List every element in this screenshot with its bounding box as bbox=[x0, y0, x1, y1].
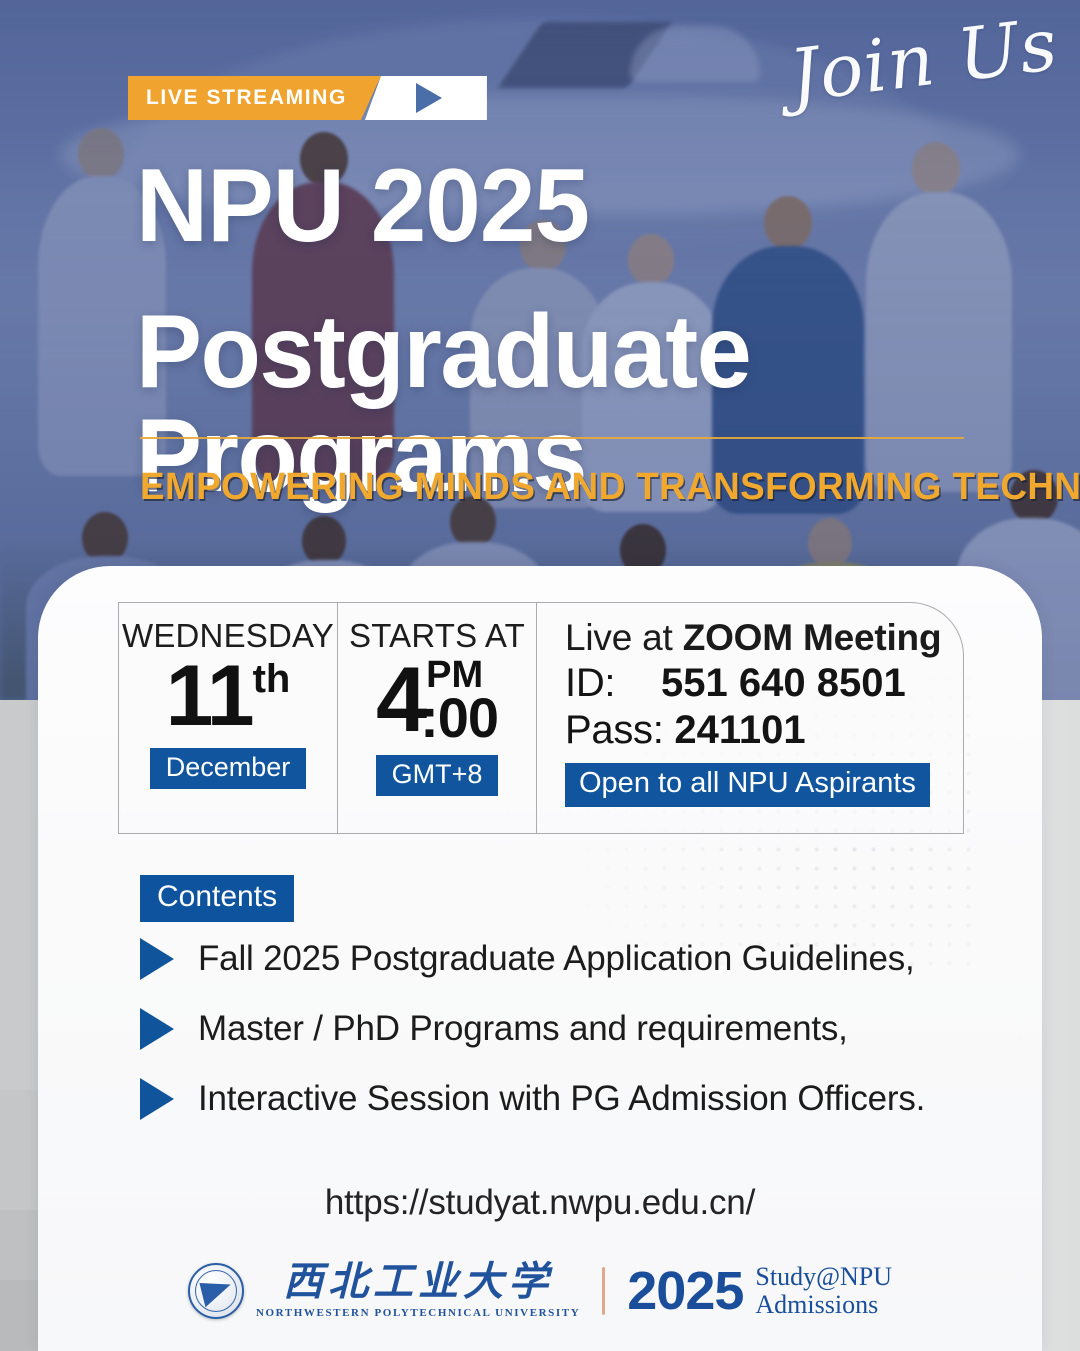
title-divider-rule bbox=[140, 437, 964, 439]
triangle-bullet-icon bbox=[140, 938, 174, 980]
play-icon bbox=[416, 83, 442, 113]
date-number: 11 bbox=[166, 657, 253, 736]
meeting-pass-value[interactable]: 241101 bbox=[674, 708, 805, 752]
list-item-label: Fall 2025 Postgraduate Application Guide… bbox=[198, 939, 915, 979]
university-seal-icon bbox=[188, 1263, 244, 1319]
footer-divider bbox=[602, 1267, 605, 1315]
admissions-line-2: Admissions bbox=[755, 1291, 892, 1318]
event-platform-cell: Live at ZOOM Meeting ID:551 640 8501 Pas… bbox=[537, 603, 963, 833]
meeting-id-line: ID:551 640 8501 bbox=[565, 661, 963, 706]
footer-admissions: Study@NPU Admissions bbox=[755, 1263, 892, 1318]
list-item: Fall 2025 Postgraduate Application Guide… bbox=[140, 938, 980, 980]
tagline: EMPOWERING MINDS AND TRANSFORMING TECHNO… bbox=[140, 466, 945, 509]
triangle-bullet-icon bbox=[140, 1008, 174, 1050]
contents-tag: Contents bbox=[140, 875, 294, 922]
seal-wing-icon bbox=[199, 1275, 234, 1307]
list-item-label: Interactive Session with PG Admission Of… bbox=[198, 1079, 925, 1119]
date-number-row: 11 th bbox=[166, 657, 291, 736]
title-block: NPU 2025 Postgraduate Programs bbox=[136, 156, 996, 508]
time-hour: 4 bbox=[376, 661, 424, 740]
event-info-card: WEDNESDAY 11 th December STARTS AT 4 PM … bbox=[118, 602, 964, 834]
live-at-line: Live at ZOOM Meeting bbox=[565, 617, 963, 659]
meeting-pass-label: Pass: bbox=[565, 708, 664, 752]
live-streaming-badge[interactable]: LIVE STREAMING bbox=[128, 76, 487, 120]
play-button[interactable] bbox=[365, 76, 487, 120]
live-streaming-label: LIVE STREAMING bbox=[128, 76, 381, 120]
timezone-badge: GMT+8 bbox=[376, 755, 499, 796]
event-date-cell: WEDNESDAY 11 th December bbox=[119, 603, 337, 833]
university-name-cn: 西北工业大学 bbox=[283, 1262, 553, 1302]
contents-list: Fall 2025 Postgraduate Application Guide… bbox=[140, 938, 980, 1148]
triangle-bullet-icon bbox=[140, 1078, 174, 1120]
list-item: Interactive Session with PG Admission Of… bbox=[140, 1078, 980, 1120]
poster-root: LIVE STREAMING Join Us NPU 2025 Postgrad… bbox=[0, 0, 1080, 1351]
time-row: 4 PM :00 bbox=[376, 657, 498, 743]
website-url[interactable]: https://studyat.nwpu.edu.cn/ bbox=[0, 1183, 1080, 1223]
meeting-id-label: ID: bbox=[565, 661, 661, 706]
list-item: Master / PhD Programs and requirements, bbox=[140, 1008, 980, 1050]
university-name-block: 西北工业大学 NORTHWESTERN POLYTECHNICAL UNIVER… bbox=[256, 1262, 580, 1319]
date-suffix: th bbox=[253, 657, 291, 702]
zoom-meeting-strong: ZOOM Meeting bbox=[683, 617, 942, 658]
footer-year: 2025 bbox=[627, 1264, 743, 1318]
meeting-id-value[interactable]: 551 640 8501 bbox=[661, 661, 906, 705]
university-name-en: NORTHWESTERN POLYTECHNICAL UNIVERSITY bbox=[256, 1307, 580, 1319]
open-to-all-badge: Open to all NPU Aspirants bbox=[565, 763, 930, 807]
time-minutes: :00 bbox=[420, 693, 498, 743]
title-line-1: NPU 2025 bbox=[136, 156, 962, 258]
live-at-prefix: Live at bbox=[565, 617, 683, 658]
event-time-cell: STARTS AT 4 PM :00 GMT+8 bbox=[337, 603, 537, 833]
time-detail: PM :00 bbox=[420, 657, 498, 743]
admissions-line-1: Study@NPU bbox=[755, 1263, 892, 1290]
meeting-pass-line: Pass: 241101 bbox=[565, 708, 963, 753]
month-badge: December bbox=[150, 748, 307, 789]
list-item-label: Master / PhD Programs and requirements, bbox=[198, 1009, 848, 1049]
footer-branding: 西北工业大学 NORTHWESTERN POLYTECHNICAL UNIVER… bbox=[0, 1262, 1080, 1319]
